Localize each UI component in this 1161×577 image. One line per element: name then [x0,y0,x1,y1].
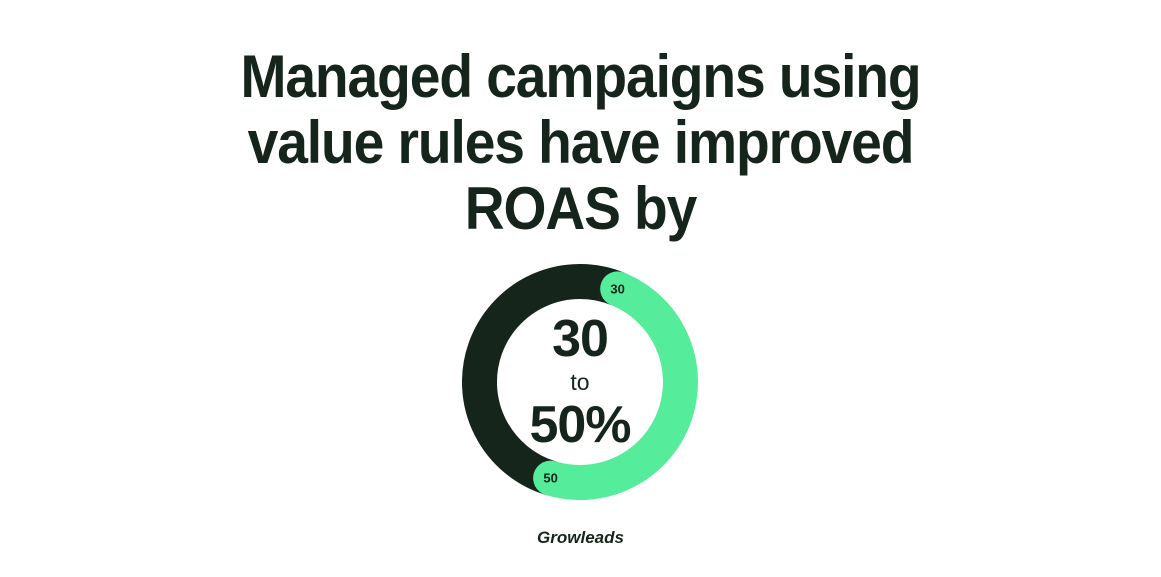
infographic-canvas: Managed campaigns using value rules have… [0,0,1161,577]
donut-chart-svg: 30 50 [462,264,698,500]
page-title: Managed campaigns using value rules have… [46,44,1114,242]
arc-label-end: 50 [543,471,557,486]
headline-line-2: value rules have improved [46,110,1114,176]
donut-chart: 30 50 30 to 50% [462,264,698,500]
donut-segment-range [551,289,681,483]
headline-line-1: Managed campaigns using [46,44,1114,110]
headline-line-3: ROAS by [46,176,1114,242]
donut-segment-remainder [479,281,617,478]
source-caption: Growleads [0,528,1161,548]
arc-label-start: 30 [610,281,624,296]
